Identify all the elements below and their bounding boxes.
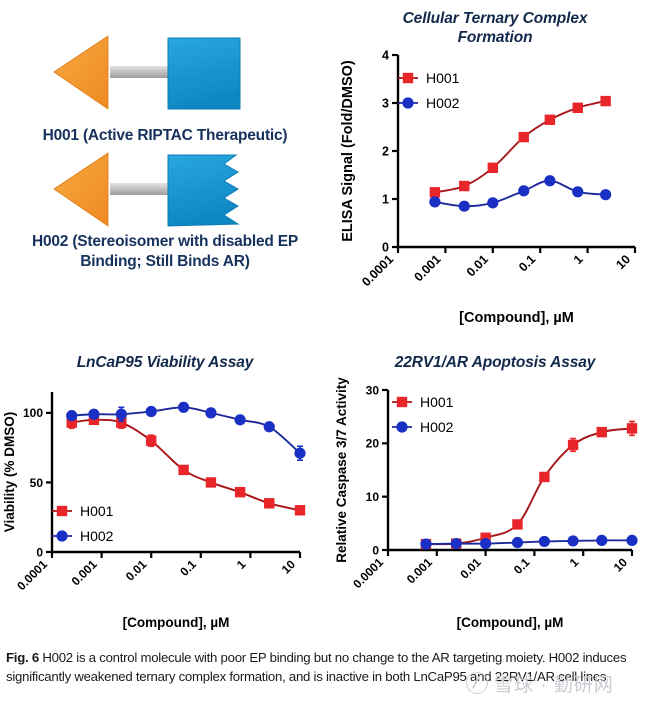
data-point-h001: [295, 505, 305, 515]
x-tick-label: 0.0001: [350, 555, 386, 591]
x-tick-label: 0.001: [412, 252, 444, 284]
data-point-h001: [512, 519, 522, 529]
data-point-h001: [430, 187, 440, 197]
figure-caption-label: Fig. 6: [6, 650, 39, 665]
data-point-h002: [572, 186, 583, 197]
data-point-h002: [116, 409, 127, 420]
chart-panel-viability: LnCaP95 Viability Assay 0.00010.0010.010…: [0, 340, 330, 635]
y-tick-label: 10: [366, 490, 380, 504]
data-point-h002: [518, 185, 529, 196]
molecule-caption-h002: H002 (Stereoisomer with disabled EP Bind…: [0, 232, 330, 272]
data-point-h002: [205, 407, 216, 418]
chart-svg-apoptosis: 0.00010.0010.010.11100102030Relative Cas…: [330, 340, 660, 635]
data-point-h002: [567, 535, 578, 546]
x-tick-label: 0.001: [69, 557, 100, 588]
plot-area: 0.00010.0010.010.11100102030Relative Cas…: [334, 377, 638, 630]
chart-legend: H001H002: [398, 70, 460, 111]
y-tick-label: 0: [382, 241, 389, 255]
x-tick-label: 10: [279, 557, 299, 577]
figure-caption: Fig. 6 H002 is a control molecule with p…: [6, 648, 656, 687]
legend-marker-h002: [402, 97, 413, 108]
legend-label-h001: H001: [426, 70, 460, 86]
y-tick-label: 20: [366, 437, 380, 451]
data-point-h002: [487, 197, 498, 208]
figure-caption-text: H002 is a control molecule with poor EP …: [6, 650, 626, 684]
figure-6: H001 (Active RIPTAC Therapeutic): [0, 0, 660, 710]
data-point-h002: [626, 535, 637, 546]
data-point-h002: [480, 538, 491, 549]
data-point-h002: [596, 535, 607, 546]
legend-marker-h002: [396, 421, 407, 432]
data-point-h001: [488, 163, 498, 173]
y-axis-label: Relative Caspase 3/7 Activity: [334, 377, 349, 563]
ep-binder-triangle: [54, 153, 108, 226]
y-tick-label: 0: [36, 545, 43, 559]
chart-panel-ternary: Cellular Ternary Complex Formation 0.000…: [330, 0, 660, 330]
y-axis-label: ELISA Signal (Fold/DMSO): [340, 60, 356, 242]
data-point-h001: [545, 115, 555, 125]
data-point-h001: [597, 427, 607, 437]
data-point-h002: [178, 402, 189, 413]
data-point-h002: [544, 175, 555, 186]
y-tick-label: 30: [366, 383, 380, 397]
legend-marker-h001: [403, 73, 413, 83]
target-square-jagged: [168, 155, 238, 226]
plot-area: 0.00010.0010.010.111001234ELISA Signal (…: [340, 49, 635, 327]
legend-label-h002: H002: [80, 528, 114, 544]
data-point-h002: [264, 421, 275, 432]
chart-panel-apoptosis: 22RV1/AR Apoptosis Assay 0.00010.0010.01…: [330, 340, 660, 635]
data-point-h002: [146, 406, 157, 417]
data-point-h002: [451, 538, 462, 549]
data-point-h001: [600, 96, 610, 106]
x-tick-label: 10: [611, 555, 631, 575]
data-point-h001: [568, 440, 578, 450]
data-point-h001: [264, 498, 274, 508]
legend-label-h001: H001: [80, 503, 114, 519]
data-point-h001: [627, 423, 637, 433]
x-tick-label: 1: [567, 555, 582, 570]
data-point-h002: [66, 410, 77, 421]
x-tick-label: 0.1: [177, 557, 199, 579]
x-tick-label: 0.01: [123, 557, 150, 584]
ep-binder-triangle: [54, 36, 108, 109]
x-tick-label: 1: [234, 557, 249, 572]
x-tick-label: 10: [613, 252, 633, 272]
linker-bar: [110, 183, 172, 195]
data-point-h002: [429, 196, 440, 207]
legend-marker-h001: [57, 506, 67, 516]
legend-marker-h002: [56, 530, 67, 541]
data-point-h001: [206, 477, 216, 487]
h001-svg: [50, 28, 280, 118]
x-axis-label: [Compound], µM: [123, 615, 230, 630]
h002-svg: [50, 145, 280, 235]
legend-label-h001: H001: [420, 394, 454, 410]
x-tick-label: 1: [571, 252, 586, 267]
y-tick-label: 100: [23, 406, 43, 420]
data-point-h002: [294, 448, 305, 459]
data-point-h001: [459, 181, 469, 191]
molecule-diagram-h001: [0, 28, 330, 118]
data-point-h001: [146, 435, 156, 445]
x-tick-label: 0.1: [516, 252, 538, 274]
y-axis-label: Viability (% DMSO): [2, 412, 17, 533]
data-point-h001: [539, 472, 549, 482]
x-tick-label: 0.1: [511, 555, 533, 577]
linker-bar: [110, 66, 172, 78]
panel-schematic: H001 (Active RIPTAC Therapeutic): [0, 0, 330, 290]
y-tick-label: 4: [382, 49, 389, 63]
molecule-caption-h001: H001 (Active RIPTAC Therapeutic): [0, 126, 330, 146]
data-point-h001: [573, 103, 583, 113]
x-tick-label: 0.0001: [359, 252, 396, 289]
chart-svg-ternary: 0.00010.0010.010.111001234ELISA Signal (…: [330, 0, 660, 330]
y-tick-label: 50: [30, 476, 44, 490]
data-point-h002: [459, 201, 470, 212]
data-point-h002: [420, 539, 431, 550]
plot-area: 0.00010.0010.010.1110050100Viability (% …: [2, 392, 306, 630]
chart-legend: H001H002: [392, 394, 454, 435]
y-tick-label: 2: [382, 145, 389, 159]
data-point-h002: [600, 189, 611, 200]
legend-label-h002: H002: [426, 95, 460, 111]
data-point-h002: [88, 409, 99, 420]
chart-svg-viability: 0.00010.0010.010.1110050100Viability (% …: [0, 340, 330, 635]
x-tick-label: 0.01: [457, 555, 484, 582]
molecule-diagram-h002: [0, 145, 330, 235]
data-point-h001: [235, 487, 245, 497]
data-point-h001: [178, 465, 188, 475]
series-curve-h001: [435, 101, 606, 192]
target-square: [168, 38, 240, 109]
x-axis-label: [Compound], µM: [457, 615, 564, 630]
y-tick-label: 0: [372, 543, 379, 557]
data-point-h002: [539, 536, 550, 547]
data-point-h002: [235, 414, 246, 425]
data-point-h002: [512, 537, 523, 548]
y-tick-label: 1: [382, 193, 389, 207]
y-tick-label: 3: [382, 97, 389, 111]
x-tick-label: 0.001: [404, 555, 435, 586]
legend-label-h002: H002: [420, 419, 454, 435]
x-tick-label: 0.01: [464, 252, 491, 279]
data-point-h001: [519, 132, 529, 142]
legend-marker-h001: [397, 397, 407, 407]
x-tick-label: 0.0001: [14, 557, 50, 593]
x-axis-label: [Compound], µM: [459, 310, 574, 326]
series-curve-h001: [426, 428, 632, 544]
chart-legend: H001H002: [52, 503, 114, 544]
